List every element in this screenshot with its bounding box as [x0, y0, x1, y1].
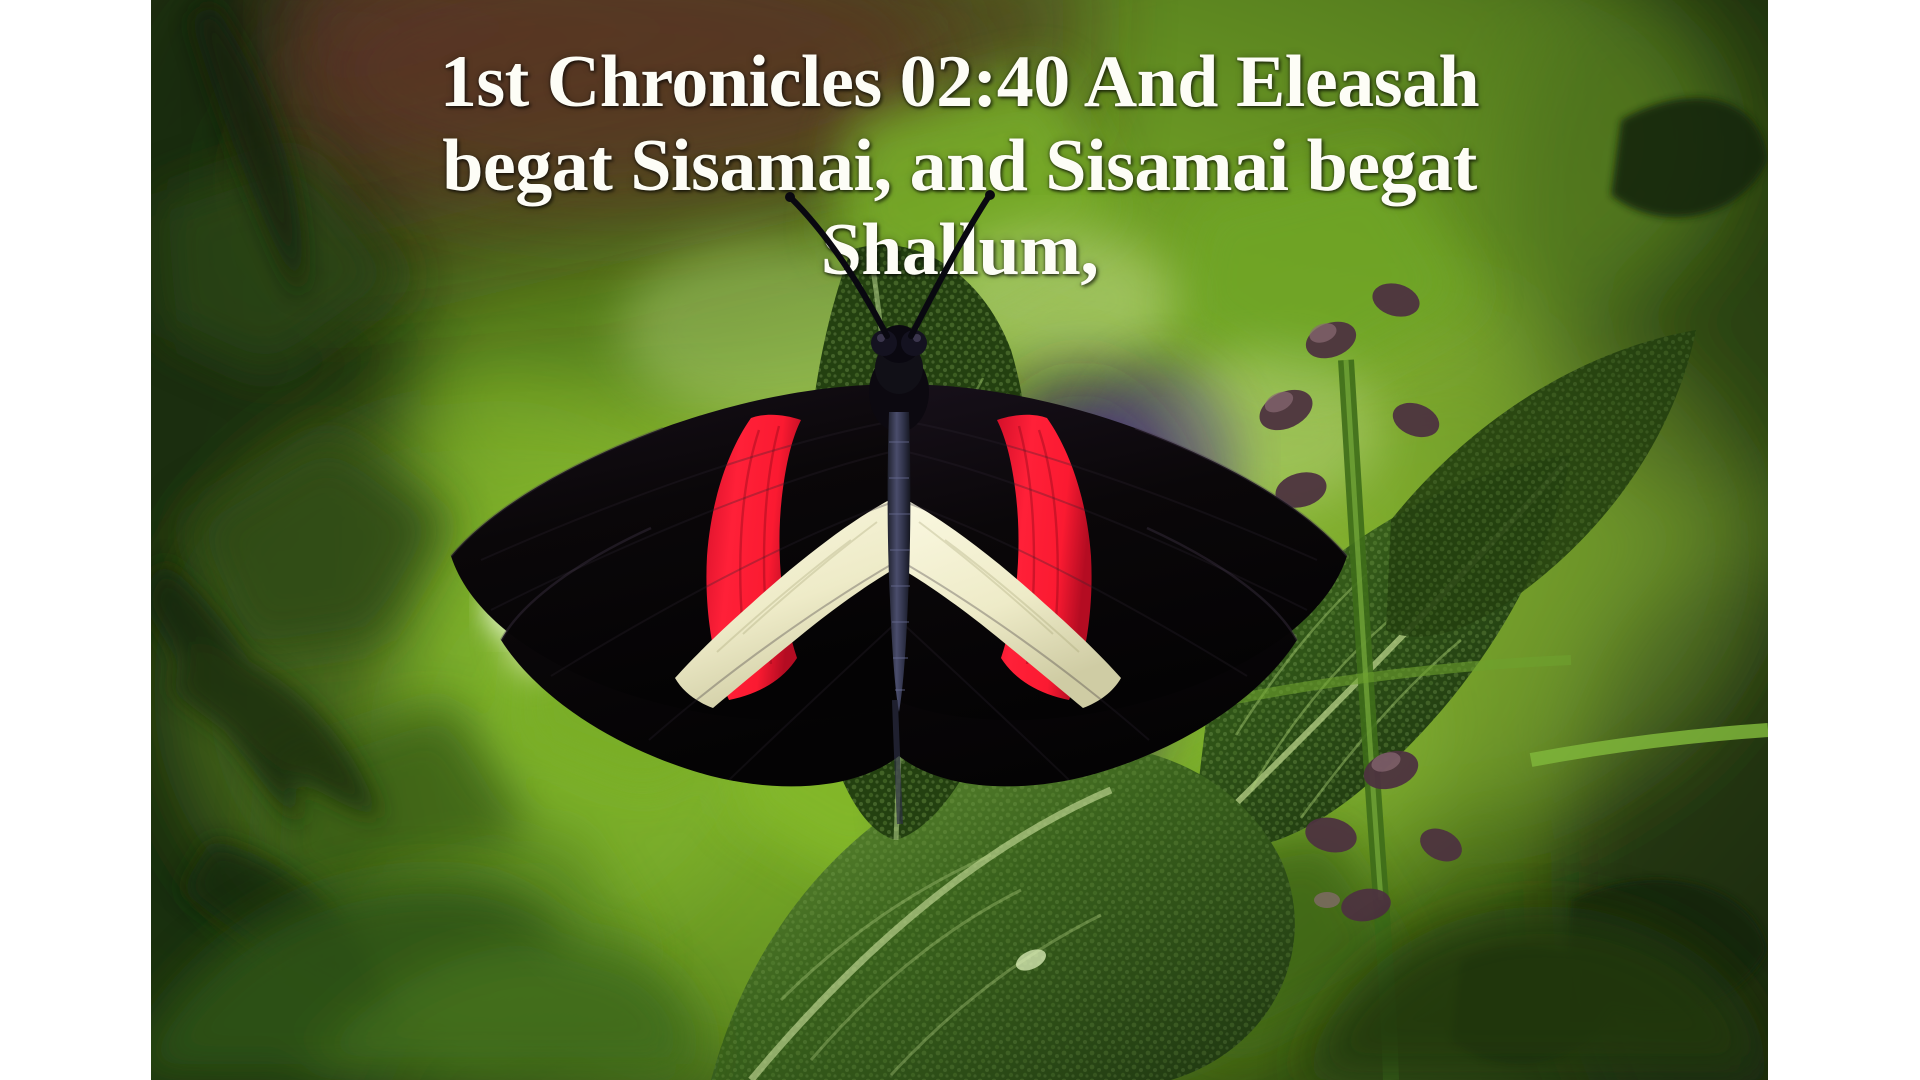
right-eye [901, 330, 927, 356]
photo-canvas [151, 0, 1768, 1080]
left-eye [871, 330, 897, 356]
scripture-image-card: 1st Chronicles 02:40 And Eleasah begat S… [0, 0, 1920, 1080]
butterfly-photo [151, 0, 1768, 1080]
